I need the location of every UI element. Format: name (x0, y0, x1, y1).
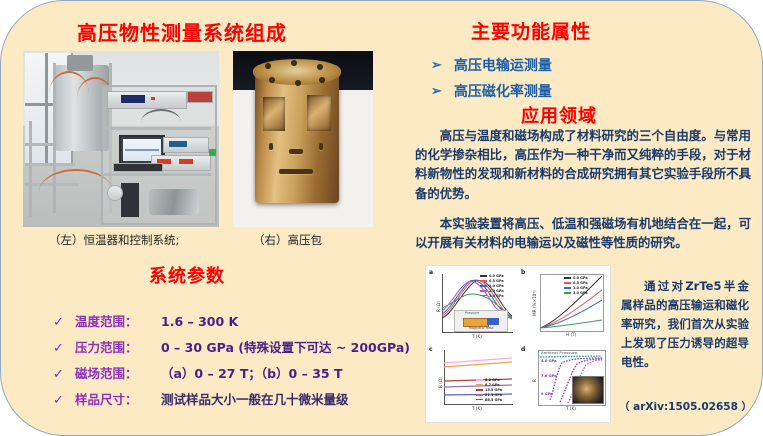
check-icon: ✓ (53, 367, 75, 382)
panel-c-letter: c (429, 346, 433, 353)
bolt-icon (291, 60, 297, 66)
panel-d-label-4gpa: 4.0 GPa (541, 359, 557, 363)
applications-paragraph-1: 高压与温度和磁场构成了材料研究的三个自由度。与常用的化学掺杂相比，高压作为一种干… (415, 126, 751, 203)
left-section-title: 高压物性测量系统组成 (77, 17, 287, 46)
legend-label: 3.0 GPa (489, 294, 504, 298)
cell-window (263, 97, 285, 131)
instrument-panel (107, 91, 187, 109)
red-readout (179, 159, 193, 164)
panel-a-ylabel: R (Ω) (436, 301, 441, 312)
system-parameters-title: 系统参数 (149, 262, 225, 288)
frame-shelf (25, 163, 75, 166)
legend-label: 6.7 GPa (485, 383, 500, 387)
legend-label: 1.0 GPa (489, 284, 504, 288)
param-value: 测试样品大小一般在几十微米量级 (161, 389, 349, 408)
cryostat-top-flange (67, 55, 93, 71)
panel-d-xlabel: T (K) (566, 406, 576, 411)
pin-hole (319, 143, 323, 150)
feature-label: 高压磁化率测量 (454, 81, 552, 101)
panel-c-ylabel: R (Ω) (438, 377, 443, 388)
param-row-pressure: ✓ 压力范围： 0 – 30 GPa (特殊设置下可达 ~ 200GPa) (53, 337, 410, 356)
bolt-icon (265, 63, 271, 69)
chart-panel-b: b 0.0 GPa 0.5 GPa 1.0 GPa 3.0 GPa H (T) … (520, 268, 608, 344)
legend-label: 21.3 GPa (485, 393, 502, 397)
panel-b-legend: 0.0 GPa 0.5 GPa 1.0 GPa 3.0 GPa (564, 276, 588, 296)
caption-left-photo: （左）恒温器和控制系统; (49, 232, 179, 248)
caption-right-photo: （右）高压包 (253, 232, 322, 248)
legend-label: 0.0 GPa (573, 276, 588, 280)
legend-label: 13.3 GPa (485, 388, 502, 392)
panel-b-xlabel: H (T) (566, 332, 576, 337)
computer-tower (121, 183, 139, 217)
panel-a-inset: Pressure Magnetic Field (454, 310, 508, 332)
engraving (279, 169, 313, 174)
feature-item-susceptibility: ➢ 高压磁化率测量 (431, 81, 552, 101)
param-row-temperature: ✓ 温度范围： 1.6 – 300 K (53, 311, 238, 330)
panel-d-letter: d (521, 346, 525, 353)
grey-cable (141, 109, 181, 135)
legend-label: 1.0 GPa (573, 286, 588, 290)
frame-post (29, 121, 32, 217)
legend-label: 0.5 GPa (489, 279, 504, 283)
param-label: 样品尺寸： (75, 389, 161, 408)
foil-wrapped-equipment (149, 189, 199, 215)
bolt-icon (317, 64, 323, 70)
bolt-icon (269, 77, 275, 83)
indicator-led (151, 97, 155, 100)
legend-label: 68.5 GPa (485, 398, 502, 402)
bolt-icon (295, 80, 301, 86)
pin-hole (269, 143, 273, 150)
legend-label: 6.2 GPa (485, 378, 500, 382)
arrow-right-icon: ➢ (431, 85, 442, 98)
param-value: 1.6 – 300 K (161, 314, 238, 329)
legend-label: 0.0 GPa (489, 274, 504, 278)
inset-label-pressure: Pressure (465, 311, 479, 315)
high-pressure-cell-photo (233, 51, 373, 227)
feature-label: 高压电输运测量 (454, 55, 552, 75)
thermostat-and-control-system-photo (23, 51, 219, 227)
valve (107, 185, 123, 201)
applications-title: 应用领域 (521, 102, 597, 128)
check-icon: ✓ (53, 341, 75, 356)
param-label: 压力范围： (75, 337, 161, 356)
panel-d-label-76gpa: 7.6 GPa (541, 374, 557, 378)
cell-scene (233, 51, 373, 227)
bolt-icon (319, 77, 325, 83)
window-bar (45, 53, 48, 165)
slide-container: 高压物性测量系统组成 (0, 0, 763, 436)
legend-label: 2.0 GPa (489, 289, 504, 293)
panel-a-xlabel: T (K) (472, 334, 482, 339)
arrow-right-icon: ➢ (431, 59, 442, 72)
param-row-sample-size: ✓ 样品尺寸： 测试样品大小一般在几十微米量级 (53, 389, 349, 408)
legend-label: 3.0 GPa (573, 291, 588, 295)
diamond-anvil-cell-photo (572, 376, 604, 404)
lab-scene (23, 51, 219, 227)
right-section-title: 主要功能属性 (471, 17, 591, 44)
panel-b-ylabel: MR (%×10³) (532, 290, 537, 316)
chart-panel-d: d Ambient Pressure 4.0 GPa 7.6 GPa 9 GPa… (520, 346, 608, 420)
keyboard (113, 163, 163, 172)
rack-shelf (103, 173, 211, 176)
param-value: （a）0 – 27 T；（b）0 – 35 T (161, 363, 342, 382)
screw-slot (289, 149, 303, 154)
param-label: 温度范围： (75, 311, 161, 330)
chart-panel-c: c 6.2 GPa 6.7 GPa 13.3 GPa 21.3 GPa 68.5… (428, 346, 516, 420)
panel-c-legend: 6.2 GPa 6.7 GPa 13.3 GPa 21.3 GPa 68.5 G… (476, 378, 502, 403)
panel-b-letter: b (521, 269, 525, 276)
panel-d-label-9gpa: 9 GPa (541, 392, 553, 396)
zrte5-result-note: 通过对ZrTe5半金属样品的高压输运和磁化率研究，我们首次从实验上发现了压力诱导… (621, 277, 749, 372)
exit-sign (209, 149, 216, 156)
check-icon: ✓ (53, 315, 75, 330)
panel-a-legend: 0.0 GPa 0.5 GPa 1.0 GPa 2.0 GPa 3.0 GPa (480, 274, 504, 299)
chart-panel-a: a 0.0 GPa 0.5 GPa 1.0 GPa 2.0 GPa 3.0 GP… (428, 268, 516, 344)
cell-window (307, 95, 331, 131)
inset-label-field: Magnetic Field (469, 326, 493, 330)
lcd-display (121, 95, 145, 103)
check-icon: ✓ (53, 393, 75, 408)
panel-d-ylabel: R (532, 379, 537, 382)
legend-label: 0.5 GPa (573, 281, 588, 285)
arxiv-reference: （ arXiv:1505.02658 ） (619, 399, 751, 414)
panel-a-letter: a (429, 269, 433, 276)
param-label: 磁场范围： (75, 363, 161, 382)
param-row-magnetic-field: ✓ 磁场范围： （a）0 – 27 T；（b）0 – 35 T (53, 363, 342, 382)
param-value: 0 – 30 GPa (特殊设置下可达 ~ 200GPa) (161, 337, 410, 356)
lcd-display (169, 141, 187, 147)
feature-item-transport: ➢ 高压电输运测量 (431, 55, 552, 75)
applications-paragraph-2: 本实验装置将高压、低温和强磁场有机地结合在一起，可以开展有关材料的电输运以及磁性… (415, 214, 751, 252)
red-box (187, 91, 213, 103)
panel-c-xlabel: T (K) (472, 406, 482, 411)
zrte5-results-figure: a 0.0 GPa 0.5 GPa 1.0 GPa 2.0 GPa 3.0 GP… (425, 265, 611, 423)
panel-d-label-ambient: Ambient Pressure (541, 351, 577, 355)
